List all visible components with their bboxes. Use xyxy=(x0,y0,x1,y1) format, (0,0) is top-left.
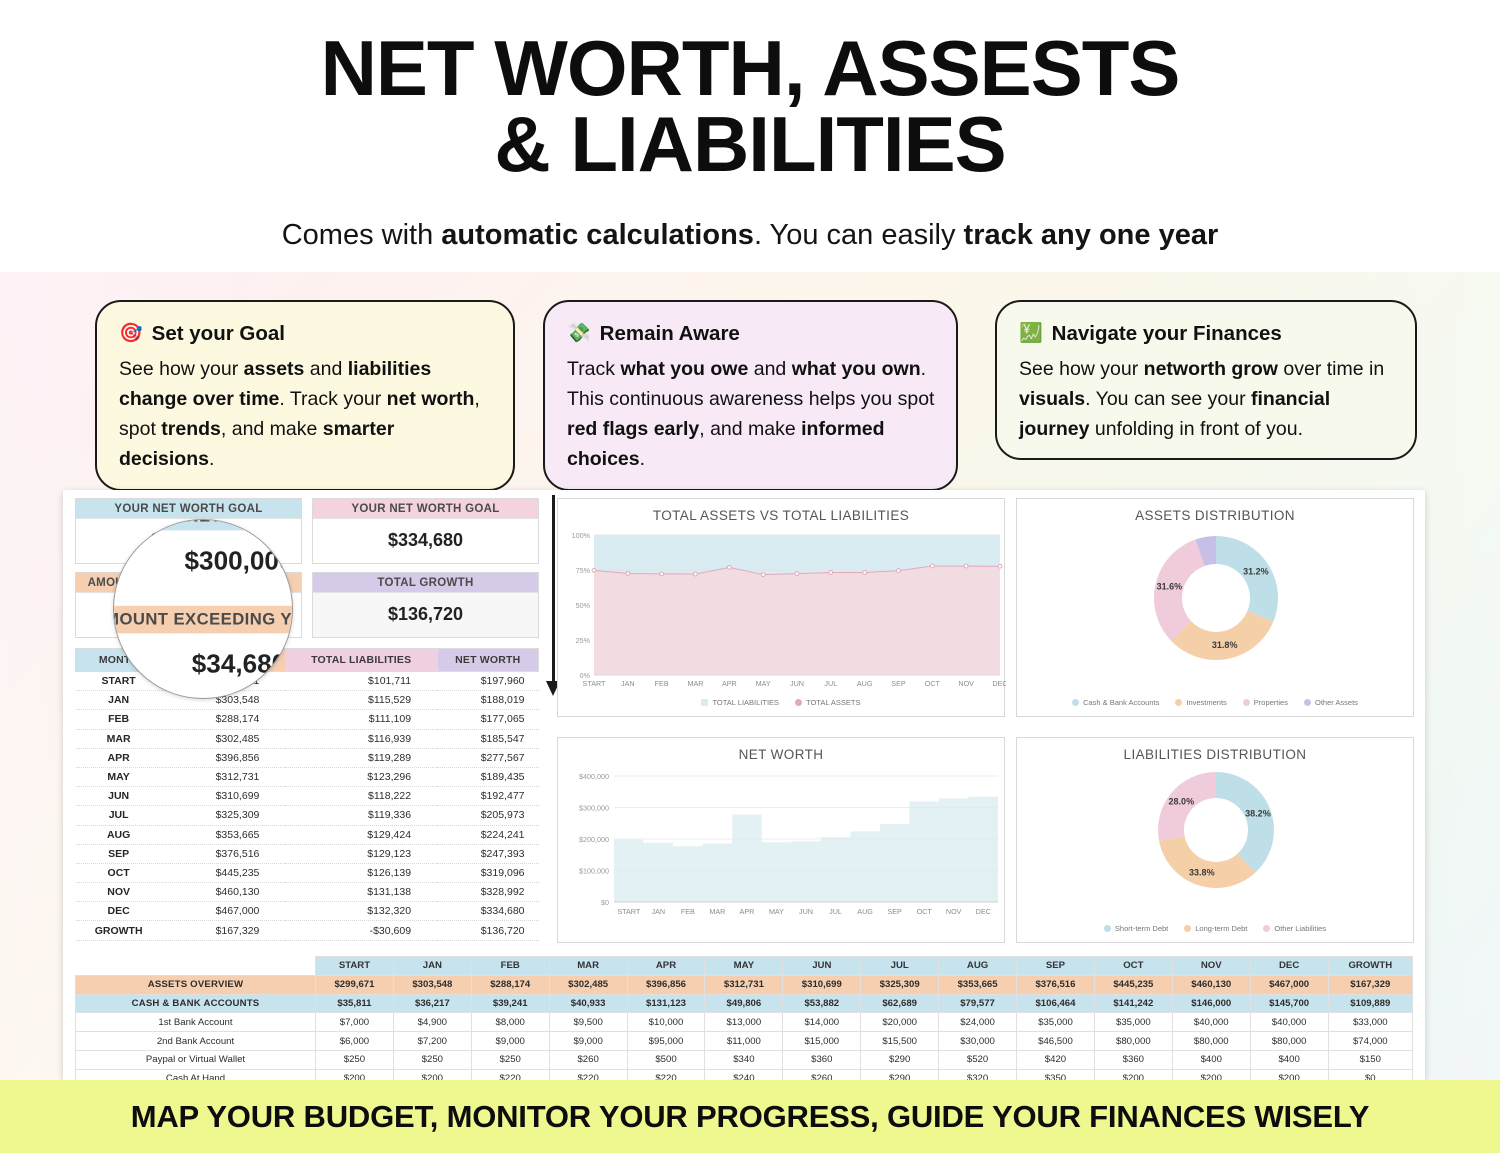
table-cell: $136,720 xyxy=(437,921,538,940)
svg-text:OCT: OCT xyxy=(925,679,941,688)
table-row: 2nd Bank Account$6,000$7,200$9,000$9,000… xyxy=(76,1032,1413,1051)
table-cell: $40,000 xyxy=(1250,1013,1328,1032)
svg-text:25%: 25% xyxy=(576,636,591,645)
svg-text:START: START xyxy=(617,907,641,916)
column-header: MAR xyxy=(549,957,627,976)
kpi-value: $334,680 xyxy=(313,519,538,563)
legend-swatch xyxy=(1104,925,1111,932)
table-cell: $129,424 xyxy=(285,825,437,844)
table-cell: $80,000 xyxy=(1250,1032,1328,1051)
table-cell: $62,689 xyxy=(861,994,939,1013)
table-cell: $167,329 xyxy=(162,921,286,940)
svg-text:AUG: AUG xyxy=(857,679,873,688)
row-label: JUL xyxy=(76,806,162,825)
monthly-table-body: START$299,671$101,711$197,960JAN$303,548… xyxy=(76,672,539,941)
table-cell: $101,711 xyxy=(285,672,437,691)
table-cell: $325,309 xyxy=(861,975,939,994)
svg-text:APR: APR xyxy=(722,679,737,688)
table-cell: $200 xyxy=(316,1069,394,1080)
column-header: JUL xyxy=(861,957,939,976)
svg-text:MAR: MAR xyxy=(709,907,725,916)
table-row: AUG$353,665$129,424$224,241 xyxy=(76,825,539,844)
table-cell: $400 xyxy=(1250,1050,1328,1069)
banner-text: MAP YOUR BUDGET, MONITOR YOUR PROGRESS, … xyxy=(131,1099,1369,1135)
table-cell: $250 xyxy=(393,1050,471,1069)
table-cell: $9,000 xyxy=(471,1032,549,1051)
table-cell: $33,000 xyxy=(1328,1013,1412,1032)
table-cell: $224,241 xyxy=(437,825,538,844)
table-cell: $260 xyxy=(549,1050,627,1069)
table-cell: $200 xyxy=(1250,1069,1328,1080)
chart-legend: Cash & Bank AccountsInvestmentsPropertie… xyxy=(1017,698,1413,707)
table-cell: $288,174 xyxy=(471,975,549,994)
legend-label: Cash & Bank Accounts xyxy=(1083,698,1159,707)
table-cell: $188,019 xyxy=(437,691,538,710)
table-cell: $10,000 xyxy=(627,1013,705,1032)
table-cell: $250 xyxy=(316,1050,394,1069)
table-cell: $319,096 xyxy=(437,863,538,882)
row-label: 2nd Bank Account xyxy=(76,1032,316,1051)
page-subtitle: Comes with automatic calculations. You c… xyxy=(0,219,1500,252)
liabilities-donut-chart: 38.2%33.8%28.0% xyxy=(1017,762,1415,910)
table-row: GROWTH$167,329-$30,609$136,720 xyxy=(76,921,539,940)
subtitle-part-1: Comes with xyxy=(282,219,442,251)
table-cell: $39,241 xyxy=(471,994,549,1013)
feature-card-header: 💹 Navigate your Finances xyxy=(1019,318,1395,350)
table-cell: $200 xyxy=(1094,1069,1172,1080)
table-cell: $310,699 xyxy=(783,975,861,994)
feature-card-header: 💸 Remain Aware xyxy=(567,318,936,350)
svg-text:31.6%: 31.6% xyxy=(1157,582,1183,592)
table-row: APR$396,856$119,289$277,567 xyxy=(76,748,539,767)
chart-panel-assets-distribution: ASSETS DISTRIBUTION 31.2%31.8%31.6% Cash… xyxy=(1016,498,1414,717)
row-label: CASH & BANK ACCOUNTS xyxy=(76,994,316,1013)
table-cell: $325,309 xyxy=(162,806,286,825)
svg-text:31.8%: 31.8% xyxy=(1212,640,1238,650)
legend-label: TOTAL ASSETS xyxy=(806,698,860,707)
legend-item: Cash & Bank Accounts xyxy=(1072,698,1159,707)
svg-text:JUL: JUL xyxy=(829,907,842,916)
svg-text:SEP: SEP xyxy=(887,907,902,916)
chart-plot-area: 31.2%31.8%31.6% Cash & Bank AccountsInve… xyxy=(1017,523,1413,710)
table-cell: $46,500 xyxy=(1017,1032,1095,1051)
table-cell: $109,889 xyxy=(1328,994,1412,1013)
table-cell: $131,123 xyxy=(627,994,705,1013)
svg-text:JAN: JAN xyxy=(652,907,666,916)
svg-text:OCT: OCT xyxy=(917,907,933,916)
feature-cards: 🎯 Set your Goal See how your assets and … xyxy=(0,300,1500,500)
feature-card-navigate-your-finances: 💹 Navigate your Finances See how your ne… xyxy=(995,300,1417,460)
svg-text:MAY: MAY xyxy=(769,907,784,916)
row-label: JUN xyxy=(76,787,162,806)
donut-container: 38.2%33.8%28.0% xyxy=(1017,762,1413,936)
table-cell: $6,000 xyxy=(316,1032,394,1051)
legend-swatch xyxy=(1263,925,1270,932)
kpi-total-growth: TOTAL GROWTH $136,720 xyxy=(312,572,539,638)
kpi-value: $136,720 xyxy=(313,593,538,637)
table-row: MAR$302,485$116,939$185,547 xyxy=(76,729,539,748)
legend-item: Long-term Debt xyxy=(1184,924,1247,933)
magnified-value-2: $34,680 xyxy=(113,633,293,697)
svg-text:$200,000: $200,000 xyxy=(579,835,609,844)
legend-swatch xyxy=(1072,699,1079,706)
table-cell: $116,939 xyxy=(285,729,437,748)
table-cell: $189,435 xyxy=(437,767,538,786)
table-cell: $79,577 xyxy=(939,994,1017,1013)
table-row: DEC$467,000$132,320$334,680 xyxy=(76,902,539,921)
table-cell: $9,500 xyxy=(549,1013,627,1032)
magnifier-content: YOUR NET WORTH GOAL $300,000 .. AMOUNT E… xyxy=(113,519,293,699)
table-cell: $205,973 xyxy=(437,806,538,825)
kpi-your-net-worth: YOUR NET WORTH GOAL $334,680 xyxy=(312,498,539,564)
table-cell: $53,882 xyxy=(783,994,861,1013)
assets-donut-chart: 31.2%31.8%31.6% xyxy=(1017,523,1415,683)
table-cell: $7,000 xyxy=(316,1013,394,1032)
svg-text:JUL: JUL xyxy=(824,679,837,688)
table-cell: $467,000 xyxy=(162,902,286,921)
table-cell: $240 xyxy=(705,1069,783,1080)
chart-title: ASSETS DISTRIBUTION xyxy=(1017,499,1413,523)
table-cell: $14,000 xyxy=(783,1013,861,1032)
table-cell: $9,000 xyxy=(549,1032,627,1051)
table-row: ASSETS OVERVIEW$299,671$303,548$288,174$… xyxy=(76,975,1413,994)
table-cell: $360 xyxy=(1094,1050,1172,1069)
table-row: Cash At Hand$200$200$220$220$220$240$260… xyxy=(76,1069,1413,1080)
table-cell: $185,547 xyxy=(437,729,538,748)
kpi-label: YOUR NET WORTH GOAL xyxy=(313,499,538,519)
row-label: Cash At Hand xyxy=(76,1069,316,1080)
legend-item: TOTAL ASSETS xyxy=(795,698,860,707)
table-cell: $115,529 xyxy=(285,691,437,710)
table-cell: $177,065 xyxy=(437,710,538,729)
feature-card-title: Navigate your Finances xyxy=(1052,318,1282,350)
table-cell: $20,000 xyxy=(861,1013,939,1032)
row-label: AUG xyxy=(76,825,162,844)
svg-text:AUG: AUG xyxy=(857,907,873,916)
table-cell: $118,222 xyxy=(285,787,437,806)
table-row: CASH & BANK ACCOUNTS$35,811$36,217$39,24… xyxy=(76,994,1413,1013)
table-cell: $197,960 xyxy=(437,672,538,691)
legend-label: TOTAL LIABILITIES xyxy=(712,698,779,707)
legend-swatch xyxy=(1175,699,1182,706)
table-cell: $353,665 xyxy=(939,975,1017,994)
column-header-net-worth: NET WORTH xyxy=(437,649,538,672)
table-cell: $288,174 xyxy=(162,710,286,729)
table-cell: $353,665 xyxy=(162,825,286,844)
column-header: GROWTH xyxy=(1328,957,1412,976)
row-label: ASSETS OVERVIEW xyxy=(76,975,316,994)
table-cell: $260 xyxy=(783,1069,861,1080)
magnified-value-1: $300,000 xyxy=(113,530,293,594)
column-header: OCT xyxy=(1094,957,1172,976)
table-cell: $328,992 xyxy=(437,883,538,902)
legend-label: Properties xyxy=(1254,698,1288,707)
legend-item: Investments xyxy=(1175,698,1226,707)
table-cell: $141,242 xyxy=(1094,994,1172,1013)
table-cell: $40,933 xyxy=(549,994,627,1013)
table-cell: $95,000 xyxy=(627,1032,705,1051)
donut-container: 31.2%31.8%31.6% xyxy=(1017,523,1413,710)
table-cell: $4,900 xyxy=(393,1013,471,1032)
money-icon: 💸 xyxy=(567,324,591,343)
svg-text:SEP: SEP xyxy=(891,679,906,688)
table-cell: $277,567 xyxy=(437,748,538,767)
table-cell: $106,464 xyxy=(1017,994,1095,1013)
row-label: DEC xyxy=(76,902,162,921)
table-cell: $360 xyxy=(783,1050,861,1069)
title-line-1: NET WORTH, ASSESTS xyxy=(321,24,1180,112)
legend-label: Other Liabilities xyxy=(1274,924,1326,933)
table-cell: $131,138 xyxy=(285,883,437,902)
legend-item: Properties xyxy=(1243,698,1288,707)
table-cell: $350 xyxy=(1017,1069,1095,1080)
assets-overview-table: STARTJANFEBMARAPRMAYJUNJULAUGSEPOCTNOVDE… xyxy=(75,956,1413,1080)
legend-swatch xyxy=(701,699,708,706)
chart-panel-liabilities-distribution: LIABILITIES DISTRIBUTION 38.2%33.8%28.0%… xyxy=(1016,737,1414,943)
svg-text:$400,000: $400,000 xyxy=(579,772,609,781)
table-cell: $49,806 xyxy=(705,994,783,1013)
table-cell: $35,811 xyxy=(316,994,394,1013)
column-header: MAY xyxy=(705,957,783,976)
table-cell: $302,485 xyxy=(549,975,627,994)
target-icon: 🎯 xyxy=(119,324,143,343)
table-cell: $460,130 xyxy=(1172,975,1250,994)
svg-text:JAN: JAN xyxy=(621,679,635,688)
table-cell: $40,000 xyxy=(1172,1013,1250,1032)
legend-item: TOTAL LIABILITIES xyxy=(701,698,779,707)
table-cell: $302,485 xyxy=(162,729,286,748)
svg-text:APR: APR xyxy=(740,907,755,916)
row-label: NOV xyxy=(76,883,162,902)
table-cell: $500 xyxy=(627,1050,705,1069)
table-cell: $520 xyxy=(939,1050,1017,1069)
table-cell: $24,000 xyxy=(939,1013,1017,1032)
table-cell: $312,731 xyxy=(705,975,783,994)
magnified-label-2: AMOUNT EXCEEDING YOUR GOAL xyxy=(113,606,293,634)
table-row: MAY$312,731$123,296$189,435 xyxy=(76,767,539,786)
chart-title: TOTAL ASSETS VS TOTAL LIABILITIES xyxy=(558,499,1004,523)
svg-text:MAY: MAY xyxy=(756,679,771,688)
chart-plot-area: 0%25%50%75%100%STARTJANFEBMARAPRMAYJUNJU… xyxy=(558,523,1004,710)
column-header: FEB xyxy=(471,957,549,976)
table-cell: $445,235 xyxy=(162,863,286,882)
table-cell: $220 xyxy=(627,1069,705,1080)
feature-card-body: See how your networth grow over time in … xyxy=(1019,354,1395,445)
feature-card-title: Set your Goal xyxy=(152,318,285,350)
column-header-blank xyxy=(76,957,316,976)
column-header: SEP xyxy=(1017,957,1095,976)
stacked-area-chart: 0%25%50%75%100%STARTJANFEBMARAPRMAYJUNJU… xyxy=(558,523,1006,712)
legend-swatch xyxy=(1304,699,1311,706)
row-label: APR xyxy=(76,748,162,767)
legend-label: Long-term Debt xyxy=(1195,924,1247,933)
row-label: GROWTH xyxy=(76,921,162,940)
column-header: START xyxy=(316,957,394,976)
table-cell: $35,000 xyxy=(1017,1013,1095,1032)
svg-text:JUN: JUN xyxy=(799,907,813,916)
legend-swatch xyxy=(795,699,802,706)
table-row: SEP$376,516$129,123$247,393 xyxy=(76,844,539,863)
table-cell: $7,200 xyxy=(393,1032,471,1051)
table-cell: $250 xyxy=(471,1050,549,1069)
legend-label: Short-term Debt xyxy=(1115,924,1168,933)
table-row: JUL$325,309$119,336$205,973 xyxy=(76,806,539,825)
feature-card-body: See how your assets and liabilities chan… xyxy=(119,354,493,475)
table-cell: $290 xyxy=(861,1069,939,1080)
page-header: NET WORTH, ASSESTS & LIABILITIES Comes w… xyxy=(0,0,1500,252)
svg-text:NOV: NOV xyxy=(946,907,962,916)
table-cell: $334,680 xyxy=(437,902,538,921)
svg-text:75%: 75% xyxy=(576,566,591,575)
table-row: NOV$460,130$131,138$328,992 xyxy=(76,883,539,902)
table-cell: $111,109 xyxy=(285,710,437,729)
table-cell: $192,477 xyxy=(437,787,538,806)
column-header: DEC xyxy=(1250,957,1328,976)
table-cell: $80,000 xyxy=(1172,1032,1250,1051)
row-label: FEB xyxy=(76,710,162,729)
svg-text:33.8%: 33.8% xyxy=(1189,868,1215,878)
table-row: OCT$445,235$126,139$319,096 xyxy=(76,863,539,882)
table-cell: $129,123 xyxy=(285,844,437,863)
table-cell: $312,731 xyxy=(162,767,286,786)
table-cell: $445,235 xyxy=(1094,975,1172,994)
net-worth-area-chart: $0$100,000$200,000$300,000$400,000STARTJ… xyxy=(558,762,1006,938)
table-cell: $376,516 xyxy=(1017,975,1095,994)
table-cell: -$30,609 xyxy=(285,921,437,940)
magnified-label-1: YOUR NET WORTH GOAL xyxy=(113,519,293,530)
row-label: MAY xyxy=(76,767,162,786)
title-line-2: & LIABILITIES xyxy=(0,106,1500,182)
magnifier-lens: YOUR NET WORTH GOAL $300,000 .. AMOUNT E… xyxy=(113,519,293,699)
page-title: NET WORTH, ASSESTS & LIABILITIES xyxy=(0,0,1500,183)
table-cell: $0 xyxy=(1328,1069,1412,1080)
feature-card-remain-aware: 💸 Remain Aware Track what you owe and wh… xyxy=(543,300,958,491)
column-header: APR xyxy=(627,957,705,976)
table-cell: $132,320 xyxy=(285,902,437,921)
table-cell: $146,000 xyxy=(1172,994,1250,1013)
table-cell: $396,856 xyxy=(162,748,286,767)
row-label: OCT xyxy=(76,863,162,882)
svg-text:28.0%: 28.0% xyxy=(1169,796,1195,806)
column-header: AUG xyxy=(939,957,1017,976)
table-cell: $396,856 xyxy=(627,975,705,994)
legend-label: Investments xyxy=(1186,698,1226,707)
table-cell: $150 xyxy=(1328,1050,1412,1069)
table-cell: $119,336 xyxy=(285,806,437,825)
table-cell: $11,000 xyxy=(705,1032,783,1051)
kpi-label: YOUR NET WORTH GOAL xyxy=(76,499,301,519)
svg-text:FEB: FEB xyxy=(655,679,669,688)
kpi-label: TOTAL GROWTH xyxy=(313,573,538,593)
table-cell: $220 xyxy=(471,1069,549,1080)
chart-legend: Short-term DebtLong-term DebtOther Liabi… xyxy=(1017,924,1413,933)
table-cell: $310,699 xyxy=(162,787,286,806)
svg-text:DEC: DEC xyxy=(992,679,1006,688)
feature-card-title: Remain Aware xyxy=(600,318,740,350)
legend-swatch xyxy=(1243,699,1250,706)
column-header-liabilities: TOTAL LIABILITIES xyxy=(285,649,437,672)
row-label: 1st Bank Account xyxy=(76,1013,316,1032)
chart-increasing-yen-icon: 💹 xyxy=(1019,324,1043,343)
table-cell: $376,516 xyxy=(162,844,286,863)
legend-item: Other Assets xyxy=(1304,698,1358,707)
svg-text:MAR: MAR xyxy=(688,679,704,688)
chart-title: NET WORTH xyxy=(558,738,1004,762)
table-cell: $15,000 xyxy=(783,1032,861,1051)
table-cell: $145,700 xyxy=(1250,994,1328,1013)
legend-swatch xyxy=(1184,925,1191,932)
column-header: JAN xyxy=(393,957,471,976)
table-row: JUN$310,699$118,222$192,477 xyxy=(76,787,539,806)
legend-item: Short-term Debt xyxy=(1104,924,1168,933)
table-cell: $303,548 xyxy=(393,975,471,994)
feature-card-header: 🎯 Set your Goal xyxy=(119,318,493,350)
table-cell: $340 xyxy=(705,1050,783,1069)
svg-text:$0: $0 xyxy=(601,898,609,907)
table-cell: $200 xyxy=(1172,1069,1250,1080)
table-cell: $13,000 xyxy=(705,1013,783,1032)
table-cell: $200 xyxy=(393,1069,471,1080)
svg-text:$100,000: $100,000 xyxy=(579,866,609,875)
subtitle-part-4: track any one year xyxy=(964,219,1219,251)
table-header-row: STARTJANFEBMARAPRMAYJUNJULAUGSEPOCTNOVDE… xyxy=(76,957,1413,976)
table-row: Paypal or Virtual Wallet$250$250$250$260… xyxy=(76,1050,1413,1069)
table-cell: $467,000 xyxy=(1250,975,1328,994)
svg-text:$300,000: $300,000 xyxy=(579,803,609,812)
table-cell: $247,393 xyxy=(437,844,538,863)
chart-plot-area: 38.2%33.8%28.0% Short-term DebtLong-term… xyxy=(1017,762,1413,936)
row-label: MAR xyxy=(76,729,162,748)
svg-text:38.2%: 38.2% xyxy=(1245,809,1271,819)
overview-table-body: ASSETS OVERVIEW$299,671$303,548$288,174$… xyxy=(76,975,1413,1080)
table-cell: $80,000 xyxy=(1094,1032,1172,1051)
column-header: NOV xyxy=(1172,957,1250,976)
table-cell: $320 xyxy=(939,1069,1017,1080)
table-cell: $290 xyxy=(861,1050,939,1069)
table-row: FEB$288,174$111,109$177,065 xyxy=(76,710,539,729)
chart-legend: TOTAL LIABILITIES TOTAL ASSETS xyxy=(558,698,1004,707)
table-cell: $8,000 xyxy=(471,1013,549,1032)
svg-text:NOV: NOV xyxy=(958,679,974,688)
table-cell: $420 xyxy=(1017,1050,1095,1069)
row-label: Paypal or Virtual Wallet xyxy=(76,1050,316,1069)
table-cell: $123,296 xyxy=(285,767,437,786)
legend-label: Other Assets xyxy=(1315,698,1358,707)
svg-text:JUN: JUN xyxy=(790,679,804,688)
legend-item: Other Liabilities xyxy=(1263,924,1326,933)
table-cell: $36,217 xyxy=(393,994,471,1013)
chart-panel-net-worth: NET WORTH $0$100,000$200,000$300,000$400… xyxy=(557,737,1005,943)
svg-text:50%: 50% xyxy=(576,601,591,610)
table-cell: $460,130 xyxy=(162,883,286,902)
table-cell: $35,000 xyxy=(1094,1013,1172,1032)
table-cell: $15,500 xyxy=(861,1032,939,1051)
column-header: JUN xyxy=(783,957,861,976)
table-cell: $299,671 xyxy=(316,975,394,994)
svg-text:31.2%: 31.2% xyxy=(1243,566,1269,576)
table-cell: $30,000 xyxy=(939,1032,1017,1051)
table-cell: $220 xyxy=(549,1069,627,1080)
svg-text:100%: 100% xyxy=(572,531,591,540)
subtitle-part-2: automatic calculations xyxy=(441,219,754,251)
svg-text:FEB: FEB xyxy=(681,907,695,916)
row-label: SEP xyxy=(76,844,162,863)
table-cell: $74,000 xyxy=(1328,1032,1412,1051)
chart-plot-area: $0$100,000$200,000$300,000$400,000STARTJ… xyxy=(558,762,1004,936)
feature-card-set-your-goal: 🎯 Set your Goal See how your assets and … xyxy=(95,300,515,491)
subtitle-part-3: . You can easily xyxy=(754,219,964,251)
table-cell: $126,139 xyxy=(285,863,437,882)
